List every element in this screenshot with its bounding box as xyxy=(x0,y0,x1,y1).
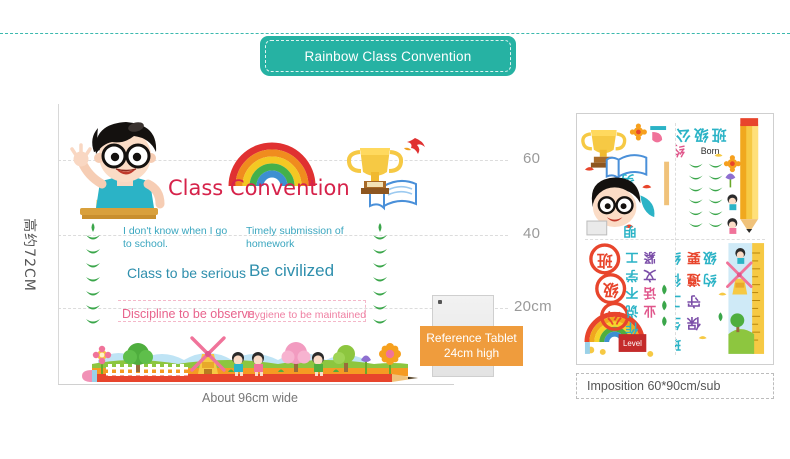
red-bird-icon xyxy=(402,136,428,160)
poster-preview-page: Rainbow Class Convention 60 40 20cm 高约72… xyxy=(0,0,790,459)
svg-text:公: 公 xyxy=(607,308,622,325)
measure-label-20: 20cm xyxy=(514,298,552,315)
svg-text:说: 说 xyxy=(625,302,638,318)
imposition-caption-text: Imposition 60*90cm/sub xyxy=(587,379,720,393)
badge-line-2: 24cm high xyxy=(444,346,499,361)
preview-headline: Class Convention xyxy=(168,176,350,200)
rule-text-row2-right: Be civilized xyxy=(249,261,334,281)
rule-text-row3-left: Discipline to be observe xyxy=(122,307,255,321)
svg-text:Level: Level xyxy=(623,339,642,348)
reference-tablet-badge: Reference Tablet 24cm high xyxy=(420,326,523,366)
sheet-cell-pencil: 班 级 公 Born 约 xyxy=(675,118,769,239)
svg-text:文: 文 xyxy=(643,267,656,283)
sheet-cell-windmill: 纪 律 卫 生 班 要 遵 守 保 级 xyxy=(675,239,769,360)
vine-decoration-right xyxy=(371,223,389,335)
svg-text:级: 级 xyxy=(703,249,717,266)
svg-text:要: 要 xyxy=(687,249,701,265)
rule-text-row1-right: Timely submission of homework xyxy=(246,225,356,251)
svg-text:作: 作 xyxy=(625,320,638,336)
tablet-camera-dot xyxy=(438,300,442,304)
cartoon-boy-illustration xyxy=(70,112,180,224)
measure-label-40: 40 xyxy=(523,225,540,242)
svg-text:遵: 遵 xyxy=(687,271,701,288)
bottom-scene-illustration xyxy=(78,330,424,384)
svg-text:约: 约 xyxy=(703,271,717,288)
svg-text:紧: 紧 xyxy=(643,249,656,264)
svg-text:保: 保 xyxy=(687,314,702,331)
imposition-sheet-panel: 努 xyxy=(576,113,774,365)
vine-decoration-left xyxy=(84,223,102,335)
svg-text:级: 级 xyxy=(603,281,619,300)
imposition-caption: Imposition 60*90cm/sub xyxy=(576,373,774,399)
banner-title: Rainbow Class Convention xyxy=(305,49,472,64)
sheet-cell-rainbow: 班 级 公 工 学 不 说 作 紧 xyxy=(581,239,675,360)
sheet-divider-horizontal xyxy=(585,239,765,240)
svg-text:约: 约 xyxy=(675,142,685,158)
svg-text:班: 班 xyxy=(711,126,726,144)
width-caption: About 96cm wide xyxy=(150,391,350,405)
svg-text:不: 不 xyxy=(625,285,638,300)
top-divider xyxy=(0,33,790,34)
svg-text:守: 守 xyxy=(687,293,701,310)
rule-text-row3-right: Hygiene to be maintained xyxy=(247,309,366,321)
svg-text:明: 明 xyxy=(623,223,636,238)
rule-text-row1-left: I don't know when I go to school. xyxy=(123,225,233,251)
sheet-cell-trophy: 努 xyxy=(581,118,675,239)
title-banner: Rainbow Class Convention xyxy=(260,36,516,76)
badge-line-1: Reference Tablet xyxy=(426,331,517,346)
svg-text:班: 班 xyxy=(597,251,613,270)
svg-text:话: 话 xyxy=(643,285,656,301)
svg-text:公: 公 xyxy=(676,126,691,143)
svg-text:工: 工 xyxy=(625,249,638,264)
height-label: 高约72CM xyxy=(8,200,52,310)
sheet-grid: 努 xyxy=(581,118,769,360)
svg-text:级: 级 xyxy=(694,126,709,144)
rule-text-row2-left: Class to be serious xyxy=(127,265,246,281)
svg-text:学: 学 xyxy=(625,267,638,283)
measure-label-60: 60 xyxy=(523,150,540,167)
svg-text:业: 业 xyxy=(643,302,656,318)
preview-baseline xyxy=(58,384,454,385)
height-label-text: 高约72CM xyxy=(20,218,40,292)
